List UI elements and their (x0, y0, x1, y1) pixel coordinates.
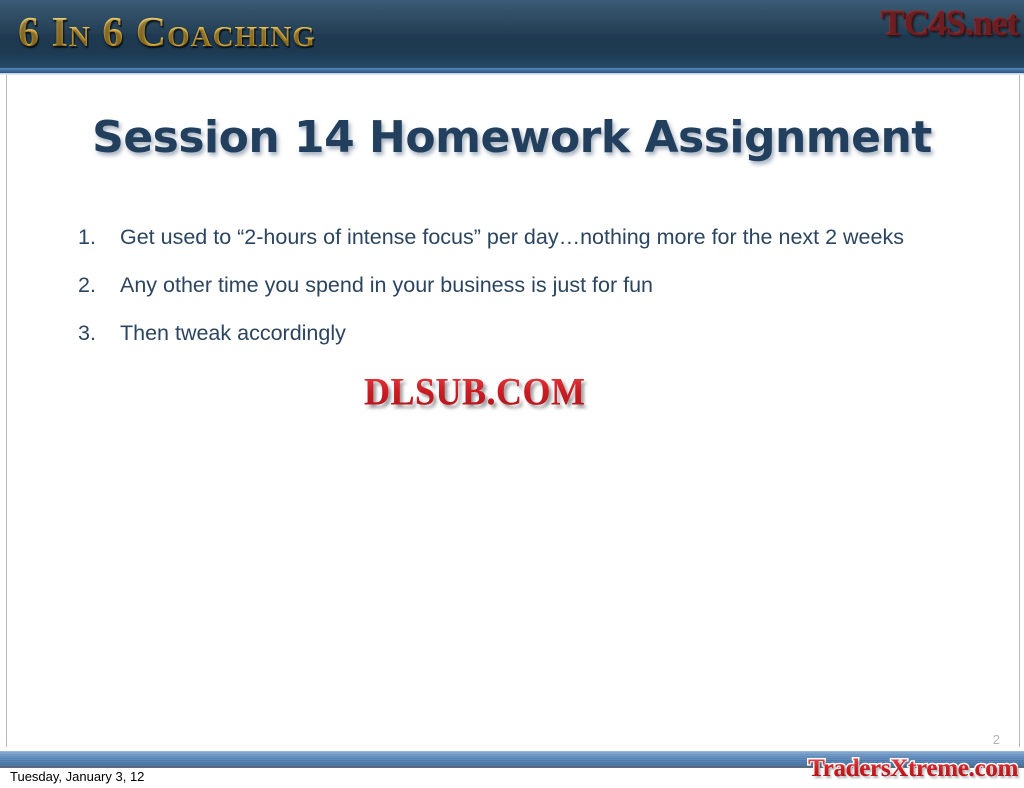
list-item-number: 2. (78, 270, 120, 300)
list-item-number: 3. (78, 318, 120, 348)
list-item: 2. Any other time you spend in your busi… (78, 270, 983, 300)
page-title: Session 14 Homework Assignment (0, 112, 1024, 163)
dlsub-watermark: DLSUB.COM (364, 369, 586, 414)
list-item-number: 1. (78, 222, 120, 252)
list-item: 3. Then tweak accordingly (78, 318, 983, 348)
tc4s-logo: TC4S.net (881, 2, 1018, 44)
tradersxtreme-logo: TradersXtreme.com (808, 755, 1018, 783)
list-item-text: Any other time you spend in your busines… (120, 270, 983, 300)
homework-list: 1. Get used to “2-hours of intense focus… (78, 222, 983, 366)
list-item-text: Get used to “2-hours of intense focus” p… (120, 222, 983, 252)
brand-title: 6 In 6 Coaching (18, 9, 316, 57)
list-item-text: Then tweak accordingly (120, 318, 983, 348)
page-number: 2 (993, 732, 1000, 747)
footer-date: Tuesday, January 3, 12 (10, 769, 144, 784)
list-item: 1. Get used to “2-hours of intense focus… (78, 222, 983, 252)
slide-canvas: 6 In 6 Coaching 6 In 6 Coaching TC4S.net… (0, 0, 1024, 788)
header-banner: 6 In 6 Coaching 6 In 6 Coaching TC4S.net (0, 0, 1024, 68)
